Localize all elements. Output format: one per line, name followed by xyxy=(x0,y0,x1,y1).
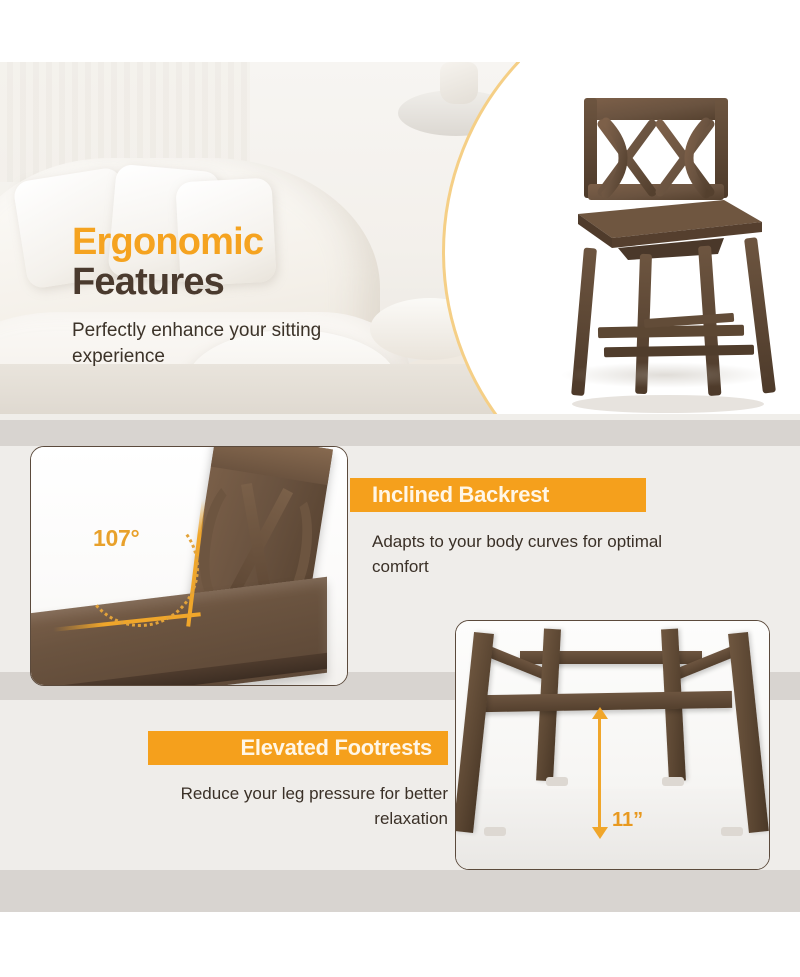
divider-band xyxy=(0,420,800,446)
headline-accent: Ergonomic xyxy=(72,222,402,262)
headline-dark: Features xyxy=(72,262,402,304)
leg-floor-cap xyxy=(721,827,743,836)
vase xyxy=(440,62,478,104)
backrest-angle-photo-card: 107° xyxy=(30,446,348,686)
measure-line xyxy=(598,713,601,835)
feature-title-inclined-backrest: Inclined Backrest xyxy=(372,482,549,508)
leg-floor-cap xyxy=(484,827,506,836)
hero-section: Ergonomic Features Perfectly enhance you… xyxy=(0,62,800,420)
feature-banner-inclined-backrest: Inclined Backrest xyxy=(350,478,646,512)
leg-floor-cap xyxy=(546,777,568,786)
leg-floor-cap xyxy=(662,777,684,786)
product-feature-page: Ergonomic Features Perfectly enhance you… xyxy=(0,0,800,977)
divider-band xyxy=(0,870,800,912)
bottom-spacer xyxy=(0,912,800,977)
angle-value-label: 107° xyxy=(93,525,139,552)
feature-title-elevated-footrests: Elevated Footrests xyxy=(241,735,432,761)
hero-subheadline: Perfectly enhance your sitting experienc… xyxy=(72,318,402,370)
footrest-height-label: 11” xyxy=(612,809,643,832)
feature-description-elevated-footrests: Reduce your leg pressure for better rela… xyxy=(128,782,448,831)
hero-text-block: Ergonomic Features Perfectly enhance you… xyxy=(72,222,402,370)
top-spacer xyxy=(0,0,800,62)
footrest-height-photo-card: 11” xyxy=(455,620,770,870)
feature-banner-elevated-footrests: Elevated Footrests xyxy=(148,731,448,765)
feature-description-inclined-backrest: Adapts to your body curves for optimal c… xyxy=(372,530,672,579)
measure-arrow-down-icon xyxy=(592,827,608,839)
product-shadow xyxy=(560,362,770,388)
